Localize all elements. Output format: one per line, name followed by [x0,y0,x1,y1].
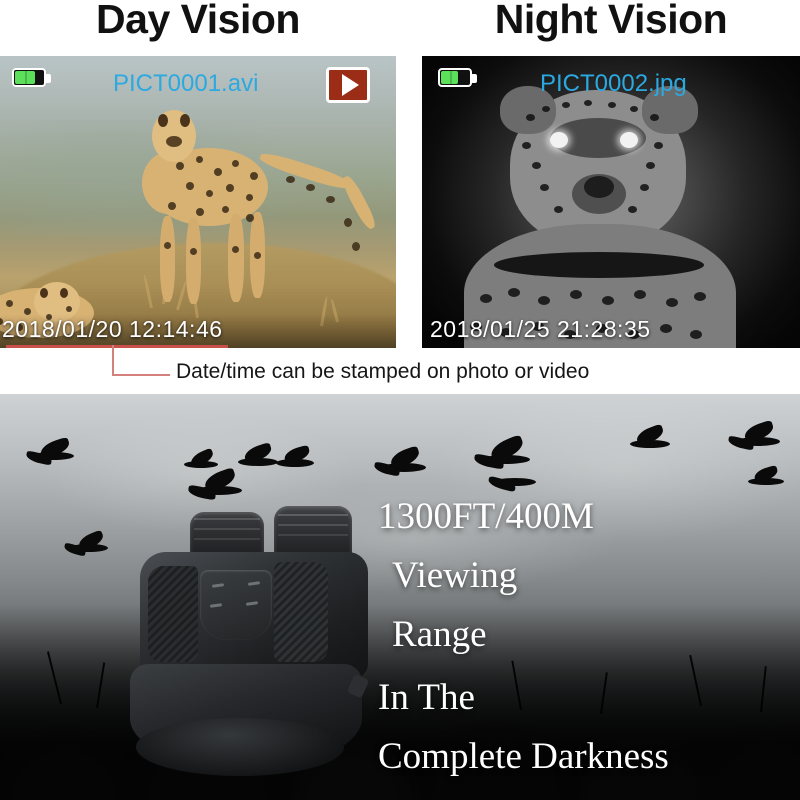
callout-leader-vertical [112,345,114,375]
night-vision-heading: Night Vision [422,0,800,43]
bird-silhouette [620,428,676,454]
hero-text-line-4: In The [378,676,475,719]
night-vision-binocular-product [78,504,388,784]
bird-silhouette [176,452,224,474]
bird-silhouette [484,466,542,492]
battery-icon-night [438,68,472,87]
night-filename-label: PICT0002.jpg [540,70,687,98]
night-timestamp-stamp: 2018/01/25 21:28:35 [430,316,651,343]
hero-text-line-3: Range [392,613,487,656]
product-marketing-image: Day Vision Night Vision [0,0,800,800]
leopard-nightvision-photo [422,56,800,348]
night-vision-photo-panel [422,56,800,348]
bird-silhouette [372,450,432,478]
hero-text-line-2: Viewing [392,554,517,597]
day-timestamp-stamp: 2018/01/20 12:14:46 [2,316,223,343]
hero-text-line-5: Complete Darkness [378,735,669,778]
bird-silhouette [22,441,80,467]
battery-icon-day [12,68,46,87]
bird-silhouette [726,424,786,452]
day-filename-label: PICT0001.avi [113,70,258,98]
callout-leader-horizontal [112,374,170,376]
bird-silhouette [740,468,790,490]
day-vision-heading: Day Vision [0,0,396,43]
bird-silhouette [184,472,246,502]
bird-silhouette [268,448,320,472]
callout-underline [6,345,228,348]
hero-text-line-1: 1300FT/400M [378,495,594,538]
callout-caption: Date/time can be stamped on photo or vid… [176,360,589,384]
play-icon[interactable] [326,67,370,103]
